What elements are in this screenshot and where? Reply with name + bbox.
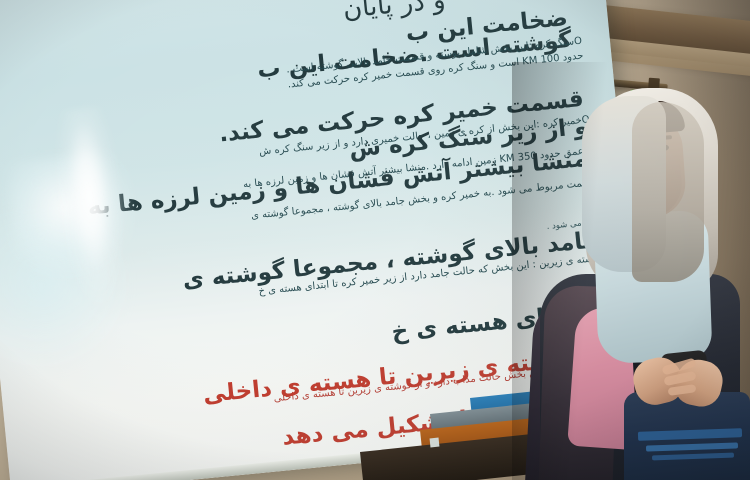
student-presenter bbox=[512, 62, 750, 480]
hijab-edge bbox=[632, 102, 704, 282]
screen-clip bbox=[430, 438, 440, 448]
photo-scene: و در پایان ضخامت این ب گوشته است .ضخامت … bbox=[0, 0, 750, 480]
